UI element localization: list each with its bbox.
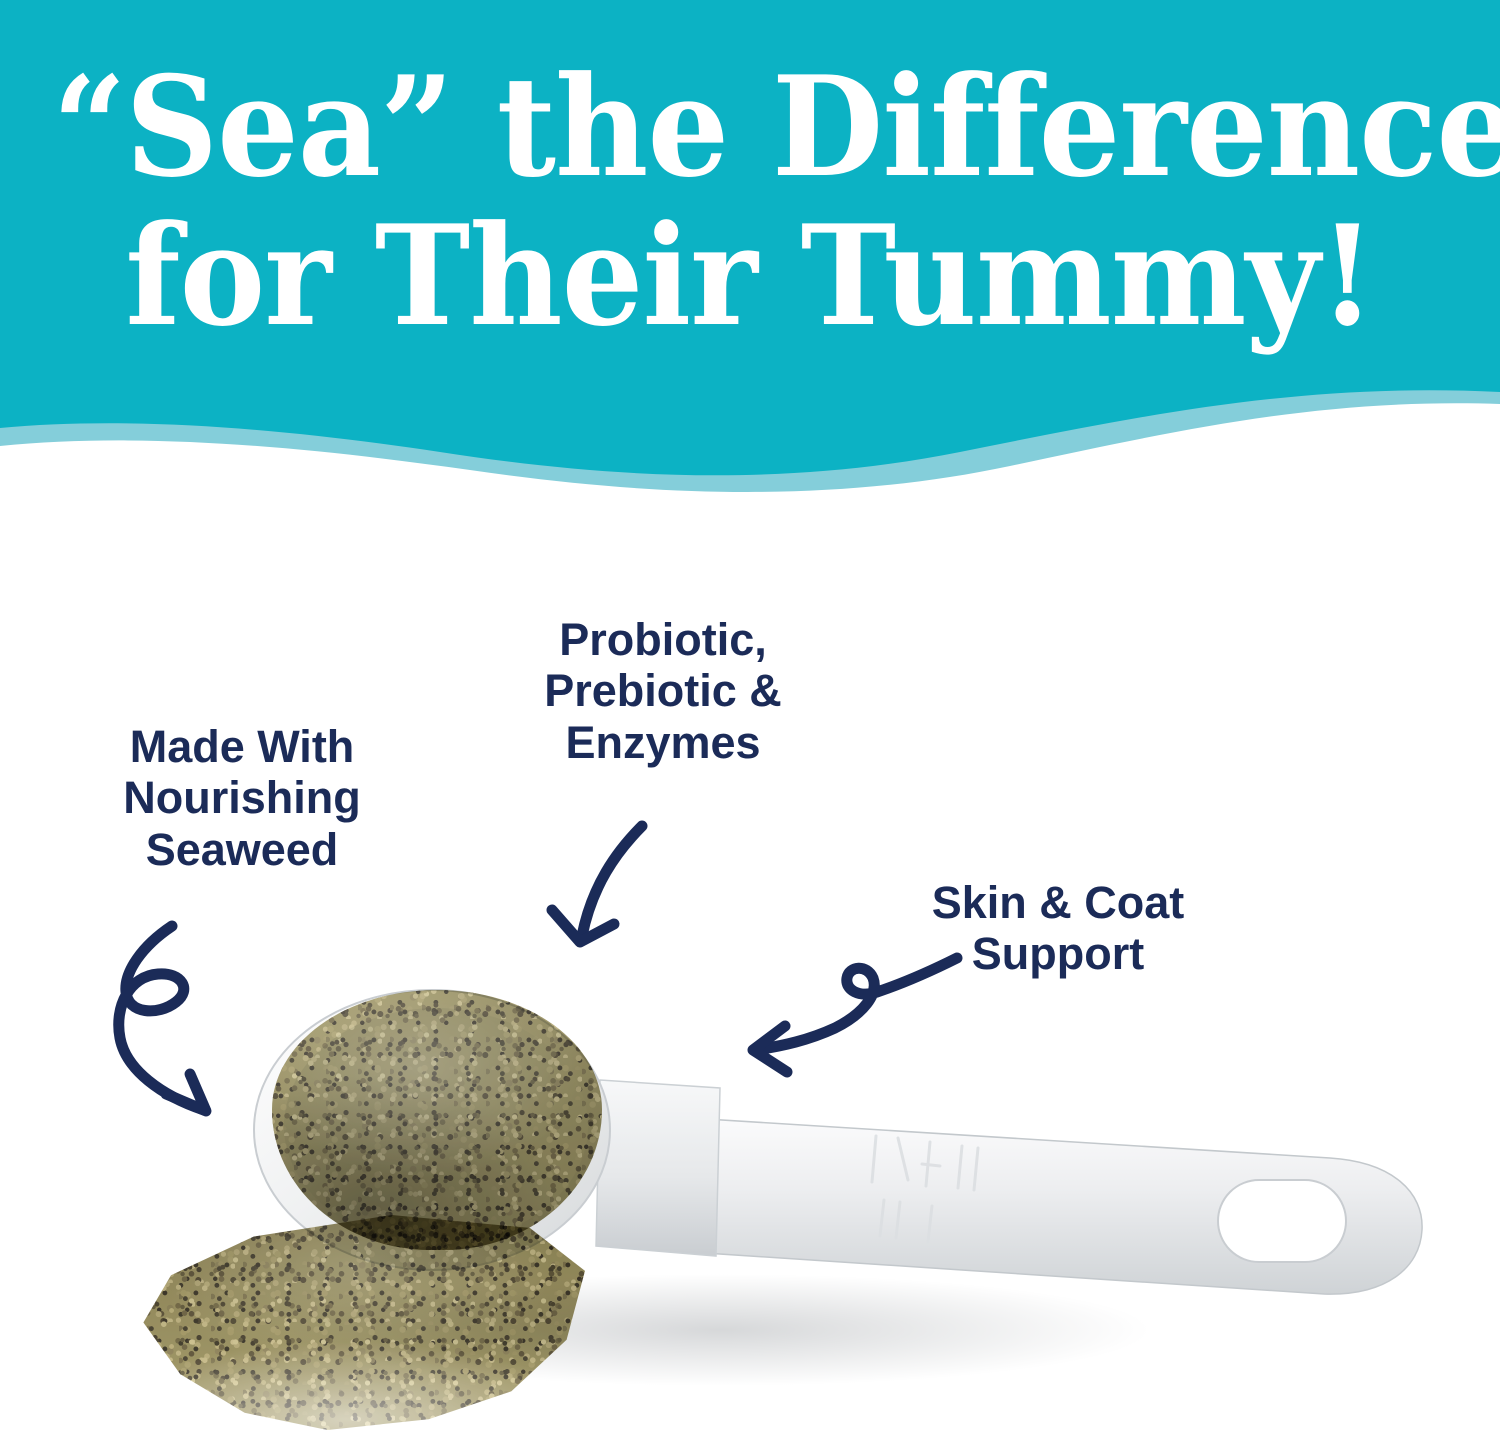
banner-wave-shape — [0, 0, 1500, 500]
arrow-stroke — [582, 826, 642, 936]
measuring-scoop-illustration — [0, 930, 1500, 1449]
headline-banner: “Sea” the Difference for Their Tummy! — [0, 0, 1500, 500]
scoop-hang-hole — [1218, 1180, 1346, 1262]
scoop-shadow — [290, 1274, 1150, 1386]
product-photo — [0, 930, 1500, 1449]
callout-label-seaweed: Made With Nourishing Seaweed — [72, 721, 412, 875]
scoop-neck-segment — [596, 1080, 720, 1256]
callout-label-skin-coat: Skin & Coat Support — [888, 877, 1228, 980]
product-feature-image: “Sea” the Difference for Their Tummy! — [0, 0, 1500, 1449]
callout-label-probiotic: Probiotic, Prebiotic & Enzymes — [498, 614, 828, 768]
scoop-bowl-interior — [284, 1008, 588, 1244]
